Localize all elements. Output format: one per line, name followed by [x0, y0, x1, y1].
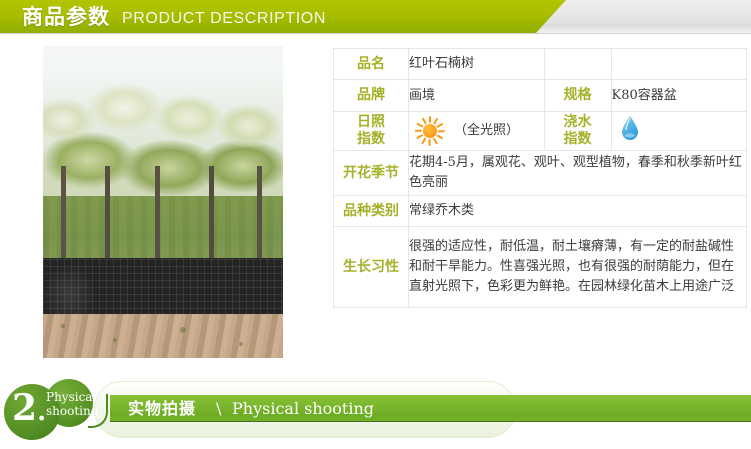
sunlight-value-label: （全光照） — [454, 121, 519, 141]
spec-label-empty-1 — [544, 49, 611, 80]
banner-bar-shadow — [110, 421, 751, 422]
badge-number-value: 2 — [12, 387, 37, 429]
sun-icon — [415, 116, 445, 146]
badge-number: 2. — [12, 390, 46, 430]
spec-value-name: 红叶石楠树 — [409, 49, 545, 80]
spec-value-bloom-season: 花期4-5月，属观花、观叶、观型植物，春季和秋季新叶红色亮丽 — [409, 151, 747, 196]
spec-value-empty-1 — [611, 49, 747, 80]
page-header-banner: 商品参数 PRODUCT DESCRIPTION — [0, 0, 751, 38]
product-photo — [43, 46, 283, 358]
spec-value-brand: 画境 — [409, 80, 545, 112]
page-title-cn: 商品参数 — [22, 3, 110, 31]
spec-label-spec: 规格 — [544, 80, 611, 112]
product-spec-table: 品名 红叶石楠树 品牌 画境 规格 K80容器盆 日照 指数 — [333, 48, 747, 308]
photo-ground-specks — [43, 314, 283, 358]
spec-label-sunlight-index: 日照 指数 — [334, 112, 409, 151]
table-row: 开花季节 花期4-5月，属观花、观叶、观型植物，春季和秋季新叶红色亮丽 — [334, 151, 747, 196]
badge-english-label: Physical shooting — [46, 390, 98, 418]
table-row: 生长习性 很强的适应性，耐低温，耐土壤瘠薄，有一定的耐盐碱性和耐干旱能力。性喜强… — [334, 227, 747, 308]
table-row: 品牌 画境 规格 K80容器盆 — [334, 80, 747, 112]
sun-core — [423, 124, 437, 138]
banner-title-en: Physical shooting — [232, 398, 374, 419]
table-row: 品种类别 常绿乔木类 — [334, 196, 747, 227]
banner-green-bar — [110, 395, 751, 422]
page-title-en: PRODUCT DESCRIPTION — [122, 8, 326, 30]
spec-value-sunlight-index: （全光照） — [409, 112, 545, 151]
spec-value-spec: K80容器盆 — [611, 80, 747, 112]
spec-label-variety-type: 品种类别 — [334, 196, 409, 227]
spec-label-watering-index: 浇水 指数 — [544, 112, 611, 151]
banner-title-separator: \ — [216, 398, 221, 419]
banner-title-cn: 实物拍摄 — [128, 398, 196, 419]
spec-label-brand: 品牌 — [334, 80, 409, 112]
water-drop-icon — [620, 115, 640, 141]
table-row: 品名 红叶石楠树 — [334, 49, 747, 80]
spec-label-growth-habit: 生长习性 — [334, 227, 409, 308]
badge-number-dot: . — [37, 397, 46, 427]
table-row: 日照 指数 （全光照） — [334, 112, 747, 151]
spec-value-watering-index — [611, 112, 747, 151]
header-underline — [0, 33, 751, 34]
spec-label-bloom-season: 开花季节 — [334, 151, 409, 196]
spec-value-variety-type: 常绿乔木类 — [409, 196, 747, 227]
spec-label-name: 品名 — [334, 49, 409, 80]
spec-value-growth-habit: 很强的适应性，耐低温，耐土壤瘠薄，有一定的耐盐碱性和耐干旱能力。性喜强光照，也有… — [409, 227, 747, 308]
section-banner-physical-shooting: 2. Physical shooting 实物拍摄 \ Physical sho… — [0, 378, 751, 440]
